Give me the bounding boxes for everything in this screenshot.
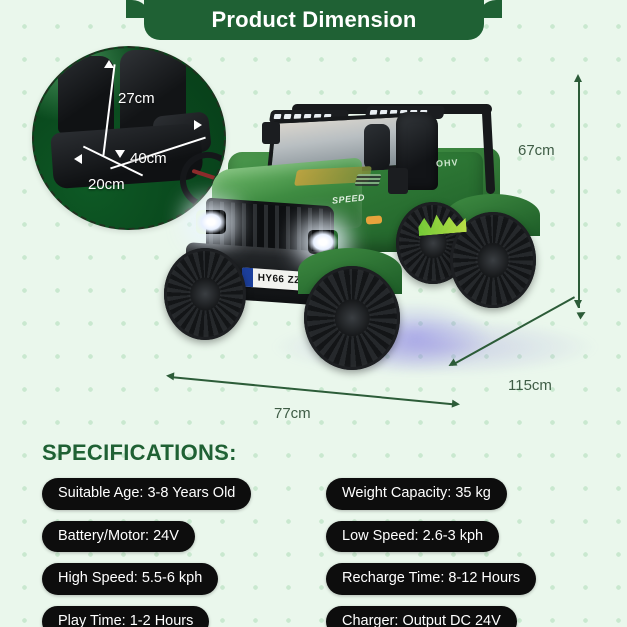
spec-item-battery-motor: Battery/Motor: 24V: [42, 521, 195, 553]
specifications-heading: SPECIFICATIONS:: [42, 440, 237, 466]
passenger-seat: [364, 124, 390, 170]
hood-vent: [355, 174, 382, 186]
wheel-front-right: [304, 266, 400, 370]
dim-line-height: [578, 78, 580, 308]
dim-arrow-width-right: [452, 400, 461, 409]
ohv-decal: OHV: [436, 157, 459, 169]
dim-arrow-down-27: [115, 150, 125, 158]
dim-label-length: 115cm: [508, 377, 552, 394]
side-mirror-left: [262, 122, 280, 144]
spec-item-high-speed: High Speed: 5.5-6 kph: [42, 563, 218, 595]
specifications-left-column: Suitable Age: 3-8 Years Old Battery/Moto…: [42, 478, 251, 627]
dim-arrow-up-height: [574, 74, 582, 82]
dim-label-height: 67cm: [518, 142, 555, 159]
turn-signal-light: [366, 215, 383, 224]
headlight-left: [196, 210, 226, 234]
spec-item-suitable-age: Suitable Age: 3-8 Years Old: [42, 478, 251, 510]
dim-label-seat-depth: 20cm: [88, 176, 125, 193]
specifications-section: SPECIFICATIONS: Suitable Age: 3-8 Years …: [0, 432, 627, 627]
banner-tab: Product Dimension: [144, 0, 484, 40]
dim-arrow-width-left: [166, 372, 175, 381]
ride-on-car-photo: HY66 ZZC SPEED OHV: [150, 52, 540, 382]
spec-item-recharge-time: Recharge Time: 8-12 Hours: [326, 563, 536, 595]
spec-item-charger: Charger: Output DC 24V: [326, 606, 517, 627]
side-mirror-right: [388, 168, 408, 194]
product-dimension-page: Product Dimension 27cm 40cm 20cm: [0, 0, 627, 627]
dim-label-width: 77cm: [274, 405, 311, 422]
wheel-front-left: [164, 248, 246, 340]
spec-item-weight-capacity: Weight Capacity: 35 kg: [326, 478, 507, 510]
spec-item-low-speed: Low Speed: 2.6-3 kph: [326, 521, 499, 553]
page-title: Product Dimension: [211, 7, 416, 33]
dim-arrow-up-27: [104, 60, 114, 68]
dim-arrow-left-20: [74, 154, 82, 164]
hero-image-area: 27cm 40cm 20cm: [0, 42, 627, 432]
spec-item-play-time: Play Time: 1-2 Hours: [42, 606, 209, 627]
specifications-right-column: Weight Capacity: 35 kg Low Speed: 2.6-3 …: [326, 478, 536, 627]
header-banner: Product Dimension: [0, 0, 627, 42]
dim-arrow-down-height: [574, 300, 582, 308]
